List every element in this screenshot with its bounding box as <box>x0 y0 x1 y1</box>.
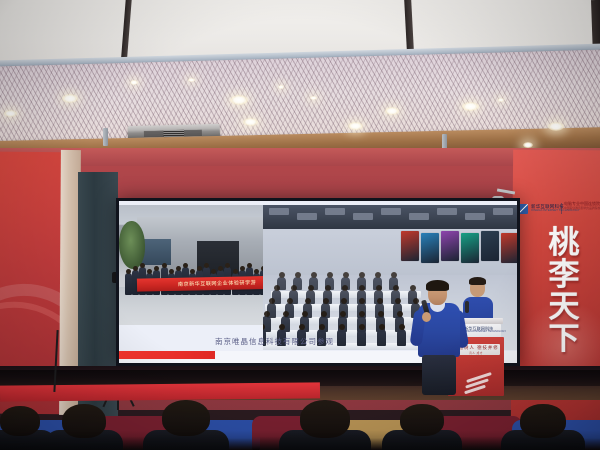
slide-student-head-1-5 <box>343 272 349 278</box>
slide-banner-text: 南京新华互联网企业体验研学游 <box>178 279 256 288</box>
ceiling-downlight-10 <box>385 107 399 115</box>
ceiling-downlight-11 <box>462 102 479 111</box>
slide-student-head-5-2 <box>279 324 285 330</box>
ceiling-downlight-2 <box>4 110 17 117</box>
slide-student-head-2-5 <box>342 285 348 291</box>
slide-ceiling-panel-3 <box>325 208 345 215</box>
ceiling-downlight-13 <box>548 122 564 131</box>
slide-ceiling-panel-6 <box>409 213 429 220</box>
slide-student-head-5-1 <box>263 324 265 330</box>
banner-side-sub: 中国职业教育影响力品牌院校 <box>564 207 600 210</box>
slide-student-head-1-3 <box>311 272 317 278</box>
slide-crowd-head-16 <box>233 269 238 274</box>
slide-student-head-5-7 <box>379 324 385 330</box>
slide-crowd-head-17 <box>240 266 245 271</box>
slide-crowd-head-10 <box>190 269 195 274</box>
slide-crowd-head-9 <box>183 263 188 268</box>
ceiling-downlight-3 <box>130 80 138 85</box>
presenter-glasses-icon <box>429 290 446 295</box>
slide-crowd-person-1 <box>125 273 132 295</box>
slide-student-head-2-4 <box>325 285 331 291</box>
slide-student-head-2-7 <box>376 285 382 291</box>
slide-crowd-head-8 <box>176 266 181 271</box>
slide-student-head-1-7 <box>375 272 381 278</box>
ceiling-downlight-7 <box>278 85 284 89</box>
banner-vertical-calligraphy: 桃 李 天 下 <box>538 228 590 356</box>
slide-ceiling-panel-1 <box>269 208 289 215</box>
slide-speaker-hair <box>469 277 486 285</box>
banner-char-1: 桃 <box>538 228 590 260</box>
podium-plate-sub: XINHUA INTERNET TECHNOLOGY <box>464 331 506 334</box>
slide-crowd-head-5 <box>154 266 159 271</box>
slide-ceiling-panel-7 <box>437 208 457 215</box>
slide-crowd-head-1 <box>126 269 131 274</box>
slide-crowd-head-11 <box>197 266 202 271</box>
audience-foreground-shadow <box>0 430 600 450</box>
banner-divider <box>561 203 562 214</box>
slide-crowd-head-14 <box>218 266 223 271</box>
slide-crowd-head-12 <box>204 263 209 268</box>
slide-ceiling-panel-5 <box>381 208 401 215</box>
slide-student-head-4-1 <box>264 311 270 317</box>
slide-ceiling-panel-2 <box>297 213 317 220</box>
slide-student-head-3-4 <box>323 298 329 304</box>
slide-crowd-head-2 <box>133 266 138 271</box>
slide-student-head-3-1 <box>269 298 275 304</box>
ceiling-downlight-1 <box>62 94 78 103</box>
podium-swoosh-logo-icon <box>464 374 494 396</box>
banner-char-3: 天 <box>538 292 590 324</box>
slide-accent-chip <box>119 351 215 359</box>
ceiling-downlight-8 <box>310 96 317 100</box>
slide-student-head-4-6 <box>359 311 365 317</box>
slide-ceiling-panel-9 <box>493 208 513 215</box>
slide-wall-poster-1 <box>401 231 419 261</box>
slide-student-head-5-4 <box>319 324 325 330</box>
slide-caption: 南京唯晶信息科技有限公司参观 <box>215 331 425 349</box>
slide-crowd-head-3 <box>140 263 145 268</box>
slide-wall-poster-5 <box>481 231 499 261</box>
banner-char-2: 李 <box>538 260 590 292</box>
slide-crowd-head-13 <box>211 269 216 274</box>
slide-wall-poster-6 <box>501 233 517 263</box>
slide-crowd-head-4 <box>147 269 152 274</box>
slide-student-head-4-2 <box>283 311 289 317</box>
slide-wall-poster-4 <box>461 233 479 263</box>
slide-crowd-head-18 <box>247 263 252 268</box>
slide-student-head-3-6 <box>359 298 365 304</box>
banner-char-4: 下 <box>538 324 590 356</box>
podium-motto-subtext: 育人 成才 <box>469 351 483 355</box>
slide-student-head-5-5 <box>339 324 345 330</box>
wall-upper-strip <box>0 148 600 166</box>
ceiling-hanger-1 <box>103 128 108 146</box>
ceiling-downlight-12 <box>498 98 504 102</box>
slide-student-head-2-6 <box>359 285 365 291</box>
slide-student-head-4-3 <box>302 311 308 317</box>
slide-student-head-3-5 <box>341 298 347 304</box>
slide-crowd-head-6 <box>162 263 167 268</box>
slide-student-head-5-3 <box>299 324 305 330</box>
slide-student-head-2-3 <box>308 285 314 291</box>
slide-student-head-3-7 <box>377 298 383 304</box>
slide-student-head-1-8 <box>391 272 397 278</box>
slide-student-head-3-8 <box>395 298 401 304</box>
slide-student-head-1-4 <box>327 272 333 278</box>
ceiling-downlight-9 <box>348 122 363 130</box>
slide-ceiling-panel-8 <box>465 213 485 220</box>
slide-student-head-3-2 <box>287 298 293 304</box>
ceiling-downlight-5 <box>230 95 248 105</box>
slide-crowd-head-19 <box>254 269 259 274</box>
slide-student-head-5-8 <box>399 324 405 330</box>
slide-student-head-1-2 <box>295 272 301 278</box>
presenter-hand <box>422 312 431 322</box>
slide-student-head-4-5 <box>340 311 346 317</box>
slide-student-head-3-3 <box>305 298 311 304</box>
banner-side-text-group: 电脑专业中国连锁院校 中国职业教育影响力品牌院校 <box>564 202 600 210</box>
slide-student-head-1-6 <box>359 272 365 278</box>
slide-wall-poster-2 <box>421 233 439 263</box>
slide-crowd-head-15 <box>225 263 230 268</box>
slide-student-head-2-8 <box>393 285 399 291</box>
slide-ceiling-panel-4 <box>353 213 373 220</box>
slide-crowd-head-7 <box>169 269 174 274</box>
slide-student-head-2-1 <box>274 285 280 291</box>
slide-caption-text: 南京唯晶信息科技有限公司参观 <box>215 337 334 346</box>
slide-student-head-5-6 <box>359 324 365 330</box>
slide-student-head-4-4 <box>321 311 327 317</box>
slide-student-head-4-8 <box>397 311 403 317</box>
slide-room-ceiling <box>263 205 517 231</box>
slide-student-head-2-2 <box>291 285 297 291</box>
conference-hall-photo: 〞〞 新华互联网科技 XINHUA INTERNET TECHNOLOGY 电脑… <box>0 0 600 450</box>
presenter-legs <box>422 355 456 395</box>
ceiling-downlight-6 <box>243 118 258 126</box>
presenter-person <box>412 282 466 394</box>
ceiling-downlight-4 <box>188 78 195 82</box>
slide-student-head-1-1 <box>279 272 285 278</box>
slide-student-head-4-7 <box>378 311 384 317</box>
slide-wall-poster-3 <box>441 231 459 261</box>
